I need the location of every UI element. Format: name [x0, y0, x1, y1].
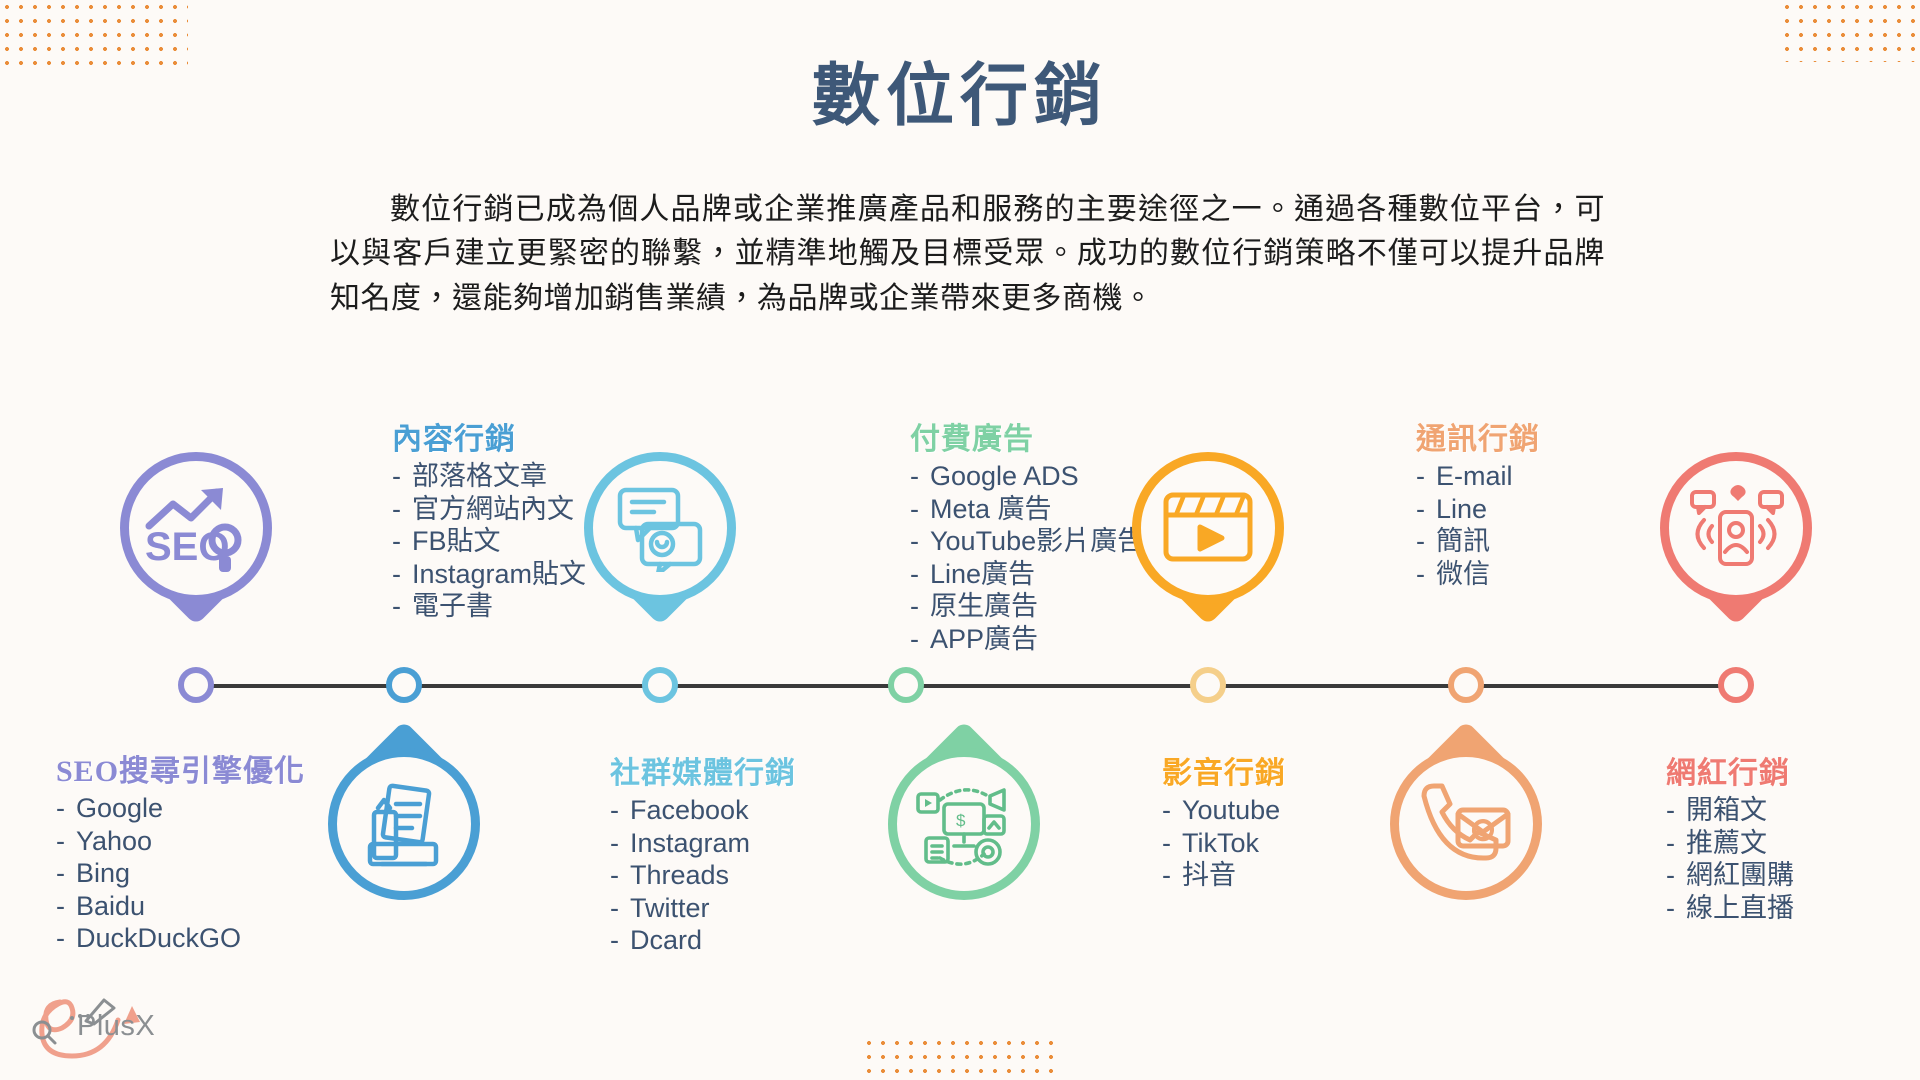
list-item: -Youtube [1136, 794, 1286, 827]
list-item: -Google ADS [884, 460, 1144, 493]
list-item: -Instagram [584, 827, 796, 860]
list-item: -Yahoo [56, 825, 305, 858]
chat-bubbles-icon [584, 452, 736, 604]
page-title: 數位行銷 [0, 62, 1920, 130]
list-item: -官方網站內文 [366, 493, 586, 526]
drop-content-marketing[interactable] [328, 718, 480, 900]
drop-communication-marketing[interactable] [1390, 718, 1542, 900]
heading-video-marketing: 影音行銷 [1136, 748, 1286, 792]
list-item: -推薦文 [1640, 827, 1794, 860]
list-item: -電子書 [366, 590, 586, 623]
list-item: -微信 [1390, 558, 1540, 591]
ad-network-monitor-icon: $ [888, 748, 1040, 900]
heading-social-media-marketing: 社群媒體行銷 [584, 748, 796, 792]
block-communication-marketing: 通訊行銷 -E-mail -Line -簡訊 -微信 [1390, 414, 1540, 590]
heading-content-marketing: 內容行銷 [366, 414, 586, 458]
list-item: -Threads [584, 859, 796, 892]
intro-paragraph: 數位行銷已成為個人品牌或企業推廣產品和服務的主要途徑之一。通過各種數位平台，可以… [330, 188, 1605, 321]
pin-influencer-marketing[interactable] [1660, 452, 1812, 632]
list-communication-marketing: -E-mail -Line -簡訊 -微信 [1390, 460, 1540, 590]
list-item: -Line廣告 [884, 558, 1144, 591]
heading-seo: SEO搜尋引擎優化 [56, 746, 305, 790]
seo-chart-magnifier-icon: SEO [120, 452, 272, 604]
list-item: -簡訊 [1390, 525, 1540, 558]
timeline-axis [190, 684, 1750, 688]
list-item: -Baidu [56, 890, 305, 923]
list-video-marketing: -Youtube -TikTok -抖音 [1136, 794, 1286, 892]
document-pencil-icon [328, 748, 480, 900]
list-item: -Bing [56, 857, 305, 890]
list-item: -YouTube影片廣告 [884, 525, 1144, 558]
list-seo: -Google -Yahoo -Bing -Baidu -DuckDuckGO [56, 792, 305, 955]
list-item: -APP廣告 [884, 623, 1144, 656]
timeline-node-influencer-marketing[interactable] [1718, 667, 1754, 703]
timeline-node-communication-marketing[interactable] [1448, 667, 1484, 703]
list-item: -FB貼文 [366, 525, 586, 558]
timeline-node-social-media-marketing[interactable] [642, 667, 678, 703]
pin-social-media-marketing[interactable] [584, 452, 736, 632]
list-item: -Twitter [584, 892, 796, 925]
list-paid-advertising: -Google ADS -Meta 廣告 -YouTube影片廣告 -Line廣… [884, 460, 1144, 656]
list-item: -開箱文 [1640, 794, 1794, 827]
drop-paid-advertising[interactable]: $ [888, 718, 1040, 900]
dot-grid-bottom-icon [862, 1036, 1058, 1080]
list-content-marketing: -部落格文章 -官方網站內文 -FB貼文 -Instagram貼文 -電子書 [366, 460, 586, 623]
list-item: -Google [56, 792, 305, 825]
dot-grid-top-left-icon [0, 0, 188, 70]
block-influencer-marketing: 網紅行銷 -開箱文 -推薦文 -網紅團購 -線上直播 [1640, 748, 1794, 924]
list-item: -Instagram貼文 [366, 558, 586, 591]
block-content-marketing: 內容行銷 -部落格文章 -官方網站內文 -FB貼文 -Instagram貼文 -… [366, 414, 586, 623]
logo-text: PlusX [77, 1010, 155, 1043]
timeline-node-paid-advertising[interactable] [888, 667, 924, 703]
heading-paid-advertising: 付費廣告 [884, 414, 1144, 458]
list-item: -Line [1390, 493, 1540, 526]
video-play-icon [1132, 452, 1284, 604]
heading-communication-marketing: 通訊行銷 [1390, 414, 1540, 458]
timeline-node-video-marketing[interactable] [1190, 667, 1226, 703]
list-item: -部落格文章 [366, 460, 586, 493]
list-item: -線上直播 [1640, 892, 1794, 925]
heading-influencer-marketing: 網紅行銷 [1640, 748, 1794, 792]
list-influencer-marketing: -開箱文 -推薦文 -網紅團購 -線上直播 [1640, 794, 1794, 924]
list-item: -抖音 [1136, 859, 1286, 892]
dot-grid-top-right-icon [1780, 0, 1920, 62]
list-item: -TikTok [1136, 827, 1286, 860]
pin-video-marketing[interactable] [1132, 452, 1284, 632]
plusx-logo[interactable]: PlusX [20, 988, 180, 1064]
phone-envelope-at-icon [1390, 748, 1542, 900]
list-item: -Facebook [584, 794, 796, 827]
list-item: -E-mail [1390, 460, 1540, 493]
list-social-media-marketing: -Facebook -Instagram -Threads -Twitter -… [584, 794, 796, 957]
timeline-node-content-marketing[interactable] [386, 667, 422, 703]
list-item: -Meta 廣告 [884, 493, 1144, 526]
phone-live-stream-icon [1660, 452, 1812, 604]
list-item: -DuckDuckGO [56, 922, 305, 955]
block-video-marketing: 影音行銷 -Youtube -TikTok -抖音 [1136, 748, 1286, 892]
infographic-canvas: 數位行銷 數位行銷已成為個人品牌或企業推廣產品和服務的主要途徑之一。通過各種數位… [0, 0, 1920, 1080]
block-seo: SEO搜尋引擎優化 -Google -Yahoo -Bing -Baidu -D… [56, 746, 305, 955]
block-social-media-marketing: 社群媒體行銷 -Facebook -Instagram -Threads -Tw… [584, 748, 796, 957]
timeline-node-seo[interactable] [178, 667, 214, 703]
pin-seo[interactable]: SEO [120, 452, 272, 632]
list-item: -原生廣告 [884, 590, 1144, 623]
list-item: -Dcard [584, 924, 796, 957]
list-item: -網紅團購 [1640, 859, 1794, 892]
block-paid-advertising: 付費廣告 -Google ADS -Meta 廣告 -YouTube影片廣告 -… [884, 414, 1144, 656]
svg-text:$: $ [956, 811, 966, 830]
